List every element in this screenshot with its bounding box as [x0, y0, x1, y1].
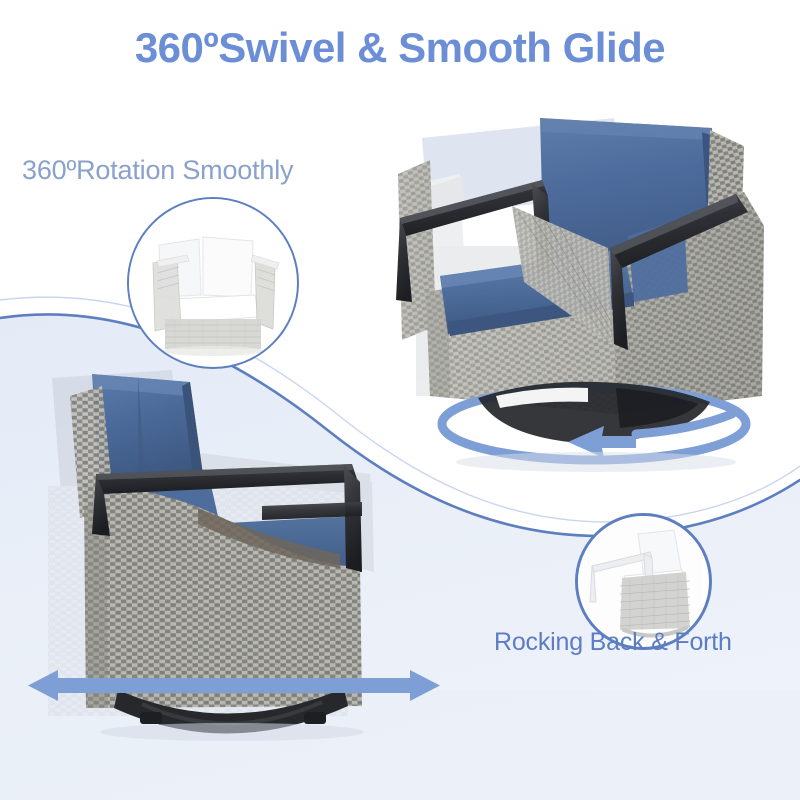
feature-label-rocking: Rocking Back & Forth: [494, 628, 732, 657]
ghost-chair-front-icon: [129, 199, 293, 363]
chair-rocking-photo: [22, 356, 442, 764]
rocking-chair-shadow: [100, 723, 364, 741]
chair-swivel-photo: [392, 96, 792, 478]
page-title: 360ºSwivel & Smooth Glide: [0, 24, 800, 72]
chair-shadow: [456, 452, 736, 472]
arrow-head-left: [28, 670, 58, 701]
ghost-chair-side-icon: [578, 516, 703, 641]
feature-graphic: 360ºSwivel & Smooth Glide 360ºRotation S…: [0, 0, 800, 800]
arrow-head-right: [410, 670, 440, 701]
inset-rotation: [127, 197, 299, 369]
feature-label-rotation: 360ºRotation Smoothly: [22, 155, 293, 186]
rocking-armrest-leg: [344, 466, 362, 572]
